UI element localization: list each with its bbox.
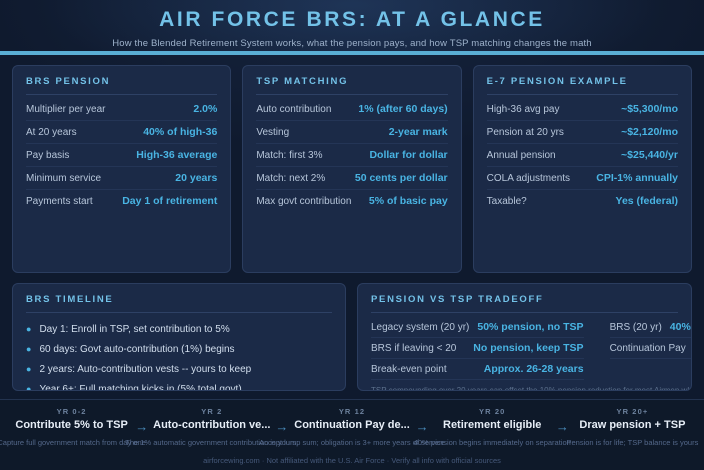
top-card-row: BRS PENSION Multiplier per year 2.0% At … xyxy=(12,65,692,273)
row-value: ~$25,440/yr xyxy=(621,149,678,161)
row-label: Continuation Pay xyxy=(610,343,686,354)
arrow-right-icon: → xyxy=(554,419,571,434)
row-label: Payments start xyxy=(26,196,93,207)
table-row: Break-even point Approx. 26-28 years xyxy=(371,359,584,380)
row-label: Max govt contribution xyxy=(256,196,351,207)
row-label: BRS if leaving < 20 xyxy=(371,343,456,354)
step-title: Retirement eligible xyxy=(431,419,554,431)
timeline-step-yr-20-plus: YR 20+ Draw pension + TSP Pension is for… xyxy=(571,407,694,431)
row-label: Match: next 2% xyxy=(256,173,325,184)
table-row: Taxable? Yes (federal) xyxy=(487,190,678,212)
row-label: Match: first 3% xyxy=(256,150,322,161)
row-label: High-36 avg pay xyxy=(487,104,560,115)
arrow-right-icon: → xyxy=(414,419,431,434)
row-value: CPI-1% annually xyxy=(596,172,678,184)
step-year-label: YR 20 xyxy=(431,407,554,416)
row-value: 50 cents per dollar xyxy=(355,172,448,184)
row-value: 20 years xyxy=(175,172,217,184)
list-item: ● Year 6+: Full matching kicks in (5% to… xyxy=(26,379,332,391)
card-title-tsp-matching: TSP MATCHING xyxy=(256,76,447,95)
row-label: Pension at 20 yrs xyxy=(487,127,564,138)
row-label: At 20 years xyxy=(26,127,77,138)
list-item: ● Day 1: Enroll in TSP, set contribution… xyxy=(26,319,332,339)
table-row: Max govt contribution 5% of basic pay xyxy=(256,190,447,212)
card-e7-pension-example: E-7 PENSION EXAMPLE High-36 avg pay ~$5,… xyxy=(473,65,692,273)
row-value: 40% pension xyxy=(670,321,692,333)
step-title: Contribute 5% to TSP xyxy=(10,419,133,431)
table-row: COLA adjustments CPI-1% annually xyxy=(487,167,678,190)
bottom-card-row: BRS TIMELINE ● Day 1: Enroll in TSP, set… xyxy=(12,283,692,391)
step-description: Pension is for life; TSP balance is your… xyxy=(566,438,698,447)
page-subtitle: How the Blended Retirement System works,… xyxy=(0,38,704,49)
bullet-dot-icon: ● xyxy=(26,343,31,356)
page-footer: airforcewing.com · Not affiliated with t… xyxy=(0,452,704,470)
table-row: Match: first 3% Dollar for dollar xyxy=(256,144,447,167)
arrow-right-icon: → xyxy=(273,419,290,434)
step-title: Auto-contribution ve... xyxy=(150,419,273,431)
card-brs-timeline: BRS TIMELINE ● Day 1: Enroll in TSP, set… xyxy=(12,283,346,391)
row-value: 1% (after 60 days) xyxy=(358,103,447,115)
row-label: Vesting xyxy=(256,127,289,138)
card-title-brs-timeline: BRS TIMELINE xyxy=(26,294,332,313)
timeline-bullet-list: ● Day 1: Enroll in TSP, set contribution… xyxy=(26,316,332,391)
tradeoff-grid: Legacy system (20 yr) 50% pension, no TS… xyxy=(371,316,678,391)
table-row: BRS (20 yr) 40% pension xyxy=(610,317,692,338)
row-label: Taxable? xyxy=(487,196,527,207)
row-label: COLA adjustments xyxy=(487,173,570,184)
row-value: 40% of high-36 xyxy=(143,126,217,138)
infographic-page: AIR FORCE BRS: AT A GLANCE How the Blend… xyxy=(0,0,704,470)
table-row: Vesting 2-year mark xyxy=(256,121,447,144)
row-value: 5% of basic pay xyxy=(369,195,448,207)
card-title-tradeoff: PENSION VS TSP TRADEOFF xyxy=(371,294,678,313)
row-label: Break-even point xyxy=(371,364,447,375)
tradeoff-spacer xyxy=(610,359,692,380)
page-header: AIR FORCE BRS: AT A GLANCE How the Blend… xyxy=(0,0,704,55)
step-year-label: YR 0-2 xyxy=(10,407,133,416)
timeline-step-yr-2: YR 2 Auto-contribution ve... The 1% auto… xyxy=(150,407,273,431)
card-pension-vs-tsp-tradeoff: PENSION VS TSP TRADEOFF Legacy system (2… xyxy=(357,283,692,391)
table-row: BRS if leaving < 20 No pension, keep TSP xyxy=(371,338,584,359)
row-value: 2.0% xyxy=(193,103,217,115)
table-row: Minimum service 20 years xyxy=(26,167,217,190)
list-item-label: Day 1: Enroll in TSP, set contribution t… xyxy=(39,323,229,336)
row-label: Auto contribution xyxy=(256,104,331,115)
page-title: AIR FORCE BRS: AT A GLANCE xyxy=(0,8,704,32)
tradeoff-note: TSP compounding over 20 years can offset… xyxy=(371,380,692,391)
row-value: High-36 average xyxy=(136,149,217,161)
row-value: Day 1 of retirement xyxy=(122,195,217,207)
row-value: ~$5,300/mo xyxy=(621,103,678,115)
table-row: Multiplier per year 2.0% xyxy=(26,98,217,121)
card-title-brs-pension: BRS PENSION xyxy=(26,76,217,95)
list-item-label: Year 6+: Full matching kicks in (5% tota… xyxy=(39,383,241,392)
row-value: Approx. 26-28 years xyxy=(484,363,584,375)
row-label: BRS (20 yr) xyxy=(610,322,662,333)
step-description: 40% pension begins immediately on separa… xyxy=(414,438,571,447)
table-row: High-36 avg pay ~$5,300/mo xyxy=(487,98,678,121)
table-row: Match: next 2% 50 cents per dollar xyxy=(256,167,447,190)
row-value: 50% pension, no TSP xyxy=(477,321,583,333)
card-tsp-matching: TSP MATCHING Auto contribution 1% (after… xyxy=(242,65,461,273)
bullet-dot-icon: ● xyxy=(26,363,31,376)
career-timeline-steps: YR 0-2 Contribute 5% to TSP Capture full… xyxy=(0,400,704,452)
row-label: Pay basis xyxy=(26,150,69,161)
row-label: Legacy system (20 yr) xyxy=(371,322,469,333)
arrow-right-icon: → xyxy=(133,419,150,434)
table-row: Auto contribution 1% (after 60 days) xyxy=(256,98,447,121)
step-title: Draw pension + TSP xyxy=(571,419,694,431)
row-value: Dollar for dollar xyxy=(369,149,447,161)
content-area: BRS PENSION Multiplier per year 2.0% At … xyxy=(0,55,704,391)
table-row: At 20 years 40% of high-36 xyxy=(26,121,217,144)
step-description: Capture full government match from day o… xyxy=(0,438,146,447)
list-item-label: 60 days: Govt auto-contribution (1%) beg… xyxy=(39,343,234,356)
table-row: Legacy system (20 yr) 50% pension, no TS… xyxy=(371,317,584,338)
bullet-dot-icon: ● xyxy=(26,383,31,392)
table-row: Annual pension ~$25,440/yr xyxy=(487,144,678,167)
card-title-e7-example: E-7 PENSION EXAMPLE xyxy=(487,76,678,95)
row-value: ~$2,120/mo xyxy=(621,126,678,138)
step-title: Continuation Pay de... xyxy=(290,419,413,431)
bullet-dot-icon: ● xyxy=(26,323,31,336)
row-value: 2-year mark xyxy=(389,126,448,138)
timeline-step-yr-20: YR 20 Retirement eligible 40% pension be… xyxy=(431,407,554,431)
career-timeline-strip: YR 0-2 Contribute 5% to TSP Capture full… xyxy=(0,399,704,452)
step-year-label: YR 20+ xyxy=(571,407,694,416)
step-year-label: YR 2 xyxy=(150,407,273,416)
card-brs-pension: BRS PENSION Multiplier per year 2.0% At … xyxy=(12,65,231,273)
table-row: Payments start Day 1 of retirement xyxy=(26,190,217,212)
row-label: Multiplier per year xyxy=(26,104,105,115)
timeline-step-yr-0-2: YR 0-2 Contribute 5% to TSP Capture full… xyxy=(10,407,133,431)
table-row: Pension at 20 yrs ~$2,120/mo xyxy=(487,121,678,144)
timeline-step-yr-12: YR 12 Continuation Pay de... Accept lump… xyxy=(290,407,413,431)
step-year-label: YR 12 xyxy=(290,407,413,416)
list-item: ● 2 years: Auto-contribution vests -- yo… xyxy=(26,359,332,379)
row-value: Yes (federal) xyxy=(616,195,678,207)
list-item-label: 2 years: Auto-contribution vests -- your… xyxy=(39,363,251,376)
row-label: Minimum service xyxy=(26,173,101,184)
table-row: Pay basis High-36 average xyxy=(26,144,217,167)
list-item: ● 60 days: Govt auto-contribution (1%) b… xyxy=(26,339,332,359)
table-row: Continuation Pay Lump xyxy=(610,338,692,359)
row-value: No pension, keep TSP xyxy=(473,342,583,354)
row-label: Annual pension xyxy=(487,150,556,161)
